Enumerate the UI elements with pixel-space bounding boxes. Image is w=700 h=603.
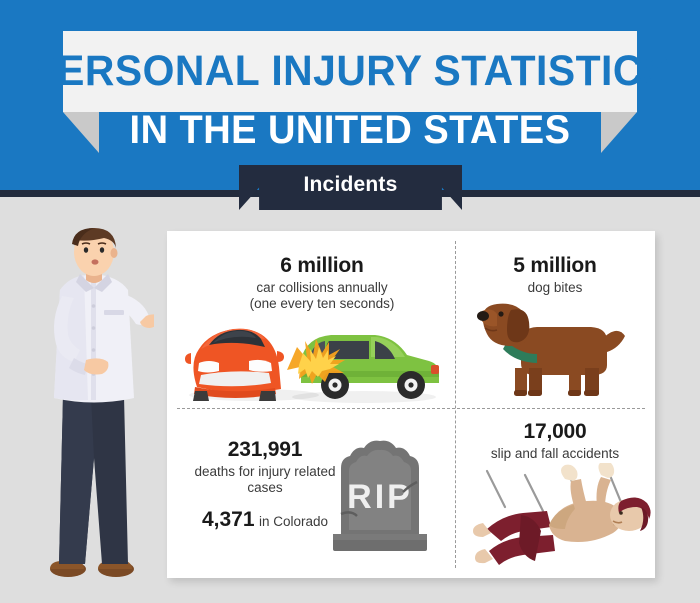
tombstone-illustration: RIP: [325, 426, 435, 561]
dog-illustration: [477, 296, 637, 406]
stat-description-line-1: car collisions annually: [189, 280, 455, 296]
car-crash-illustration: [179, 309, 444, 409]
presenter-man-illustration: [36, 228, 154, 585]
stat-text-group: 17,000 slip and fall accidents: [455, 420, 655, 462]
stat-card-slip-and-fall: 17,000 slip and fall accidents: [455, 408, 655, 578]
stat-secondary-unit: in Colorado: [259, 514, 328, 529]
page-title-line-2: IN THE UNITED STATES: [18, 104, 683, 156]
stat-card-injury-deaths: 231,991 deaths for injury related cases …: [167, 408, 455, 578]
stat-description: slip and fall accidents: [455, 446, 655, 462]
section-ribbon: Incidents: [239, 165, 462, 210]
stat-secondary-value: 4,371: [202, 508, 255, 531]
stat-description: dog bites: [455, 280, 655, 296]
page-title-line-1: PERSONAL INJURY STATISTICS: [77, 34, 622, 108]
stat-value: 17,000: [455, 420, 655, 444]
stat-card-dog-bites: 5 million dog bites: [455, 231, 655, 408]
stat-value: 5 million: [455, 254, 655, 278]
stat-card-car-collisions: 6 million car collisions annually (one e…: [167, 231, 455, 408]
falling-person-illustration: [463, 463, 653, 583]
infographic-root: PERSONAL INJURY STATISTICS IN THE UNITED…: [0, 0, 700, 603]
stat-text-group: 6 million car collisions annually (one e…: [167, 254, 455, 312]
section-ribbon-label: Incidents: [304, 165, 398, 205]
stat-description: car collisions annually (one every ten s…: [167, 280, 455, 312]
stat-text-group: 5 million dog bites: [455, 254, 655, 296]
stat-value: 6 million: [167, 254, 455, 278]
tombstone-text: RIP: [347, 478, 413, 516]
